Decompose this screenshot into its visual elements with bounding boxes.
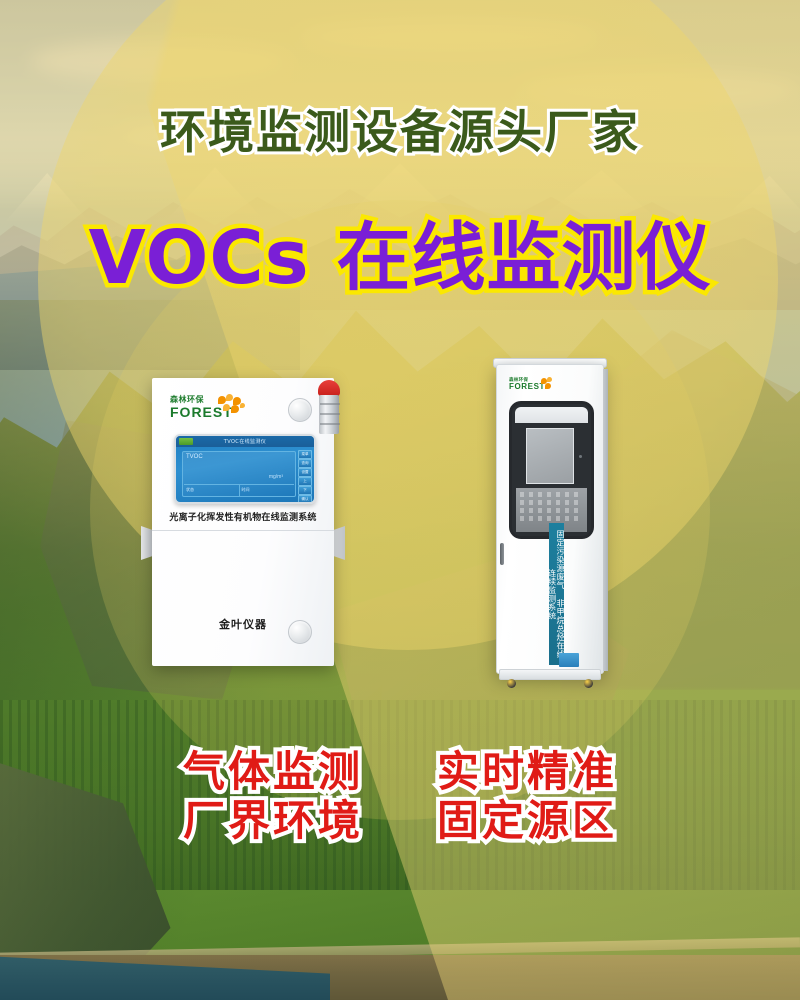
lcd-softkey[interactable]: 设置: [298, 468, 312, 477]
forest-logo: 森林环保 FOREST: [509, 377, 557, 393]
slogan-block: 气体监测 厂界环境 实时精准 固定源区: [0, 748, 800, 844]
module-row: [520, 492, 583, 497]
wall-mounted-analyzer: 森林环保 FOREST TVOC在线监测仪: [152, 378, 334, 666]
screen-indicator-dot: [579, 455, 582, 458]
module-row: [520, 516, 583, 521]
lcd-content-frame: TVOC mg/m³ 状态 时间: [182, 451, 296, 497]
lcd-status-badge: [179, 438, 193, 445]
leaf-cluster-icon: [541, 377, 557, 389]
forest-logo: 森林环保 FOREST: [170, 394, 244, 424]
device-caption: 光离子化挥发性有机物在线监测系统: [152, 510, 334, 523]
sensor-probe: [318, 380, 340, 434]
lcd-channel-label: TVOC: [186, 454, 203, 460]
cabinet-caster: [584, 679, 593, 688]
cabinet-body: 森林环保 FOREST: [496, 364, 604, 674]
slogan-line: 实时精准: [437, 748, 617, 795]
cabinet-caster: [507, 679, 516, 688]
door-top-trim: [515, 407, 588, 423]
leaf-cluster-icon: [218, 394, 246, 416]
lcd-footer-cell: 状态: [184, 485, 240, 496]
lcd-softkey[interactable]: 下: [298, 486, 312, 495]
enclosure-seam: [152, 530, 334, 531]
lcd-title-text: TVOC在线监测仪: [224, 438, 266, 445]
cabinet-vertical-label: 固定污染源废气 非甲烷总烃在线连续监测系统: [549, 523, 564, 665]
lcd-footer-row: 状态 时间: [184, 484, 294, 496]
lcd-footer-cell: 时间: [240, 485, 295, 496]
cabinet-touchscreen[interactable]: [526, 428, 574, 484]
slogan-column-right: 实时精准 固定源区: [437, 748, 617, 844]
lcd-softkey[interactable]: 上: [298, 477, 312, 486]
cabinet-analyzer: 森林环保 FOREST: [496, 364, 604, 674]
probe-steel-body: [319, 395, 339, 434]
slogan-line: 厂界环境: [183, 797, 363, 844]
page-title: VOCs 在线监测仪: [0, 198, 800, 305]
lcd-softkey[interactable]: 确认: [298, 495, 312, 504]
probe-red-cap: [318, 380, 340, 396]
lcd-unit-label: mg/m³: [269, 474, 283, 480]
lcd-softkey-column[interactable]: 菜单 查询 设置 上 下 确认: [298, 450, 312, 498]
mount-bracket-right: [333, 526, 345, 560]
module-row: [520, 500, 583, 505]
slogan-line: 气体监测: [183, 748, 363, 795]
module-row: [520, 508, 583, 513]
cabinet-door-window[interactable]: [509, 401, 594, 539]
cloud-shape: [30, 40, 290, 82]
cabinet-base-plinth: [499, 669, 601, 680]
headline-text: 环境监测设备源头厂家: [0, 96, 800, 162]
device-brand-label: 金叶仪器: [152, 616, 334, 632]
enclosure-body: 森林环保 FOREST TVOC在线监测仪: [152, 378, 334, 666]
lcd-titlebar: TVOC在线监测仪: [176, 436, 314, 447]
lcd-softkey[interactable]: 查询: [298, 459, 312, 468]
cabinet-door-handle[interactable]: [500, 543, 504, 565]
cloud-shape: [300, 18, 600, 54]
slogan-line: 固定源区: [437, 797, 617, 844]
poster-canvas: 环境监测设备源头厂家 VOCs 在线监测仪 森林环保 FOREST: [0, 0, 800, 1000]
slogan-column-left: 气体监测 厂界环境: [183, 748, 363, 844]
lcd-display[interactable]: TVOC在线监测仪 TVOC mg/m³ 状态 时间 菜单 查询 设置 上 下: [174, 434, 316, 504]
lcd-softkey[interactable]: 菜单: [298, 450, 312, 459]
enclosure-screw-top: [288, 398, 312, 422]
cabinet-blue-sticker: [559, 653, 579, 667]
cabinet-side-panel: [603, 369, 608, 671]
